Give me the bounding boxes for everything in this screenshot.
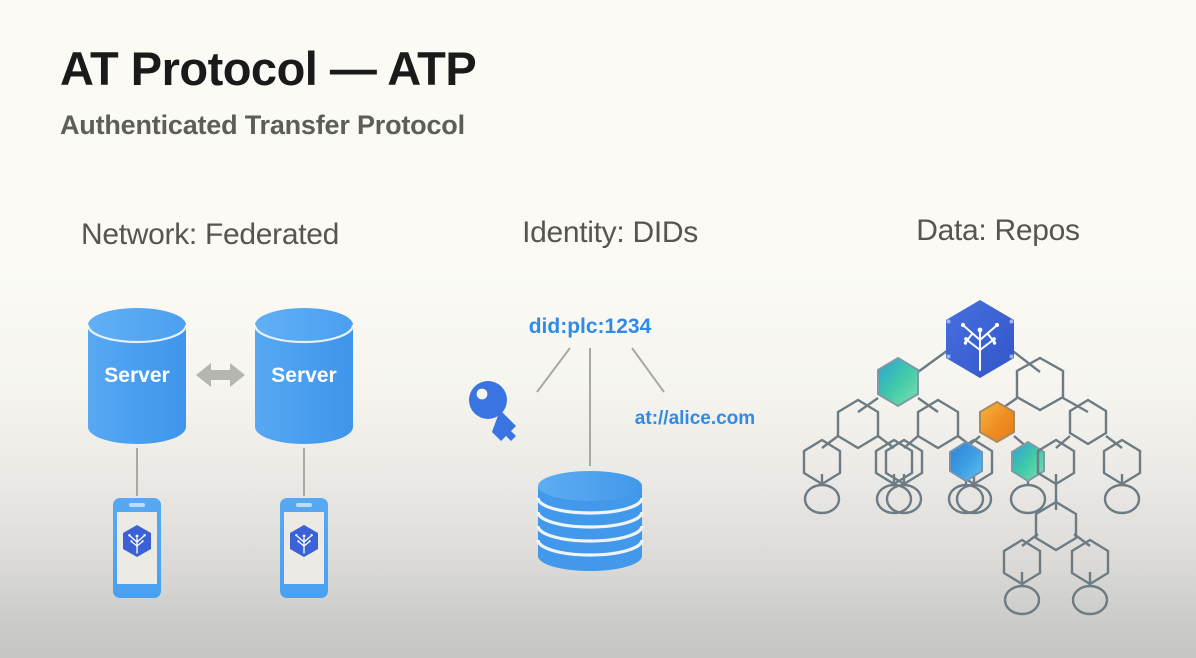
- circle-leaf-icon: [887, 485, 921, 513]
- identity-diagram: did:plc:1234 at://alice.com: [420, 0, 800, 658]
- server-left-label: Server: [104, 364, 169, 387]
- column-network: Network: Federated: [0, 0, 420, 658]
- server-device-connectors: [137, 448, 304, 496]
- did-label: did:plc:1234: [529, 315, 652, 338]
- column-data: Data: Repos: [800, 0, 1196, 658]
- circle-leaf-icon: [1011, 485, 1045, 513]
- circle-leaf-icon: [1005, 586, 1039, 614]
- server-right: Server: [255, 308, 353, 444]
- server-right-label: Server: [271, 364, 336, 387]
- circle-leaf-icon: [805, 485, 839, 513]
- circle-leaf-icon: [1105, 485, 1139, 513]
- circle-leaf-icon: [949, 485, 983, 513]
- hexagon-node-icon: [1070, 400, 1106, 444]
- circle-leaf-icon: [877, 485, 911, 513]
- data-merkle-tree-diagram: [800, 0, 1196, 658]
- device-right: [280, 498, 328, 598]
- handle-label: at://alice.com: [635, 408, 755, 429]
- column-identity: Identity: DIDs did:plc:1234 at://alice.c…: [420, 0, 800, 658]
- hexagon-node-icon: [950, 442, 982, 481]
- server-left: Server: [88, 308, 186, 444]
- network-diagram: Server Server: [0, 0, 420, 658]
- hexagon-node-icon: [838, 400, 878, 448]
- circle-leaf-icon: [957, 485, 991, 513]
- atproto-tree-logo-icon: [946, 300, 1014, 378]
- double-arrow-icon: [196, 363, 245, 387]
- hexagon-node-icon: [918, 400, 958, 448]
- hexagon-node-icon: [878, 358, 918, 406]
- tree-leaves: [805, 485, 1139, 614]
- database-stack-icon: [538, 471, 642, 571]
- identity-leader-lines: [537, 348, 664, 466]
- key-icon: [469, 381, 516, 441]
- hexagon-node-icon: [980, 402, 1014, 442]
- hexagon-node-icon: [1017, 358, 1063, 410]
- circle-leaf-icon: [1073, 586, 1107, 614]
- device-left: [113, 498, 161, 598]
